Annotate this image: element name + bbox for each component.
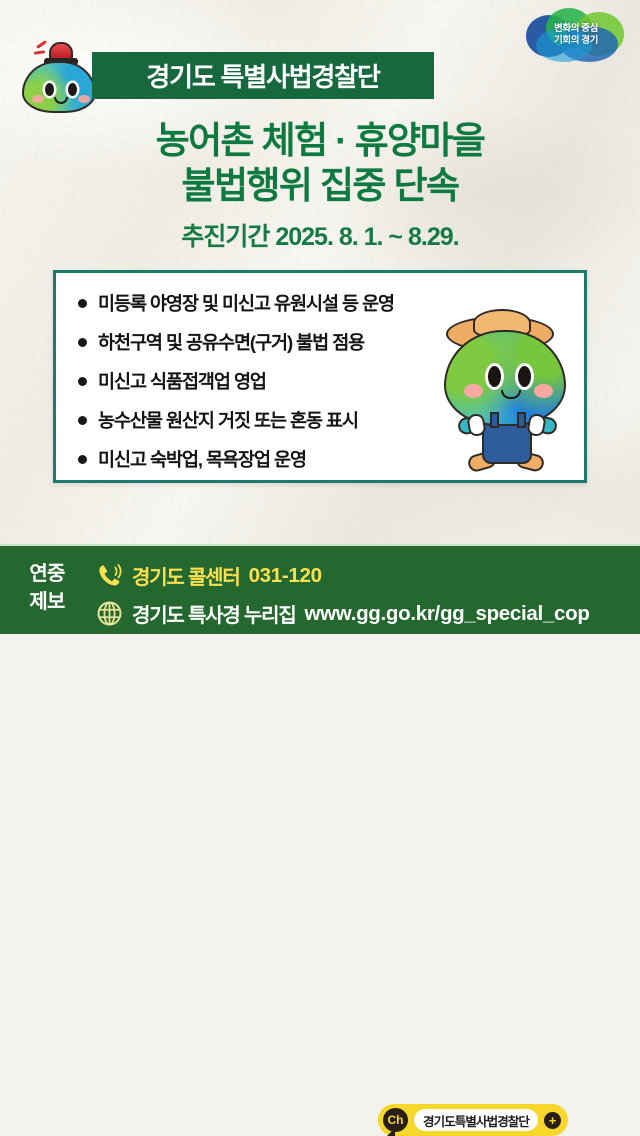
- report-label: 연중 제보: [16, 560, 78, 617]
- bullet-dot-icon: [78, 338, 87, 347]
- kakao-channel-pill[interactable]: 경기도특별사법경찰단: [414, 1109, 538, 1131]
- kakao-channel-badge[interactable]: Ch 경기도특별사법경찰단 +: [378, 1104, 568, 1136]
- website-url[interactable]: www.gg.go.kr/gg_special_cop: [305, 602, 590, 626]
- brand-logo-line2: 기회의 경기: [554, 36, 598, 47]
- list-item-label: 미신고 숙박업, 목욕장업 운영: [98, 442, 306, 478]
- website-label: 경기도 특사경 누리집: [132, 599, 296, 628]
- title-line-2: 불법행위 집중 단속: [0, 163, 640, 208]
- bullet-dot-icon: [78, 377, 87, 386]
- globe-icon: [96, 600, 123, 627]
- footer-bar: 연중 제보 경기도 콜센터 031-120 경기도 특사경 누리집 www.gg…: [0, 546, 640, 634]
- kakao-add-button[interactable]: +: [544, 1112, 561, 1129]
- gyeonggi-brand-logo: 변화의 중심 기회의 경기: [524, 6, 628, 64]
- campaign-period: 추진기간 2025. 8. 1. ~ 8.29.: [0, 217, 640, 253]
- kakao-ch-text: Ch: [383, 1108, 408, 1132]
- bullet-dot-icon: [78, 299, 87, 308]
- brand-logo-line1: 변화의 중심: [554, 24, 598, 35]
- farmer-mascot-icon: [428, 312, 594, 484]
- list-item-label: 미신고 식품접객업 영업: [98, 364, 266, 400]
- organization-name: 경기도 특별사법경찰단: [146, 57, 379, 94]
- organization-banner: 경기도 특별사법경찰단: [92, 52, 434, 99]
- report-label-line2: 제보: [16, 588, 78, 616]
- call-center-label: 경기도 콜센터: [132, 561, 240, 590]
- website-row[interactable]: 경기도 특사경 누리집 www.gg.go.kr/gg_special_cop: [96, 599, 590, 628]
- list-item-label: 농수산물 원산지 거짓 또는 혼동 표시: [98, 403, 358, 439]
- kakao-channel-icon: Ch: [383, 1108, 408, 1132]
- list-item-label: 하천구역 및 공유수면(구거) 불법 점용: [98, 325, 364, 361]
- kakao-channel-name: 경기도특별사법경찰단: [423, 1111, 529, 1130]
- poster-canvas: 변화의 중심 기회의 경기 경기도 특별사법경찰단 농어촌 체험 · 휴양마을 …: [0, 0, 640, 634]
- bullet-dot-icon: [78, 416, 87, 425]
- phone-ringing-icon: [96, 562, 123, 589]
- title-line-1: 농어촌 체험 · 휴양마을: [0, 118, 640, 163]
- report-label-line1: 연중: [16, 560, 78, 588]
- siren-mascot-icon: [16, 42, 102, 112]
- bullet-dot-icon: [78, 455, 87, 464]
- title-block: 농어촌 체험 · 휴양마을 불법행위 집중 단속 추진기간 2025. 8. 1…: [0, 118, 640, 253]
- call-center-number[interactable]: 031-120: [249, 564, 322, 588]
- brand-logo-text: 변화의 중심 기회의 경기: [524, 6, 628, 64]
- list-item-label: 미등록 야영장 및 미신고 유원시설 등 운영: [98, 286, 394, 322]
- call-center-row[interactable]: 경기도 콜센터 031-120: [96, 561, 322, 590]
